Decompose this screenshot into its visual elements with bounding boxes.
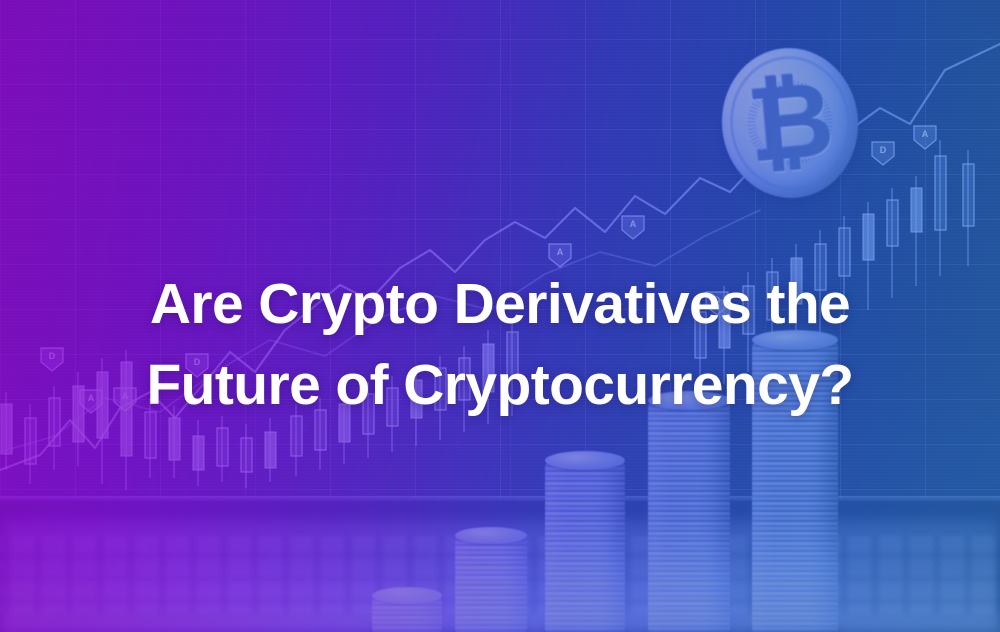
headline-line-2: Future of Cryptocurrency? [0, 345, 1000, 426]
page-title: Are Crypto Derivatives the Future of Cry… [0, 264, 1000, 426]
headline-line-1: Are Crypto Derivatives the [0, 264, 1000, 345]
crypto-article-banner: D A A D A A D D A [0, 0, 1000, 632]
